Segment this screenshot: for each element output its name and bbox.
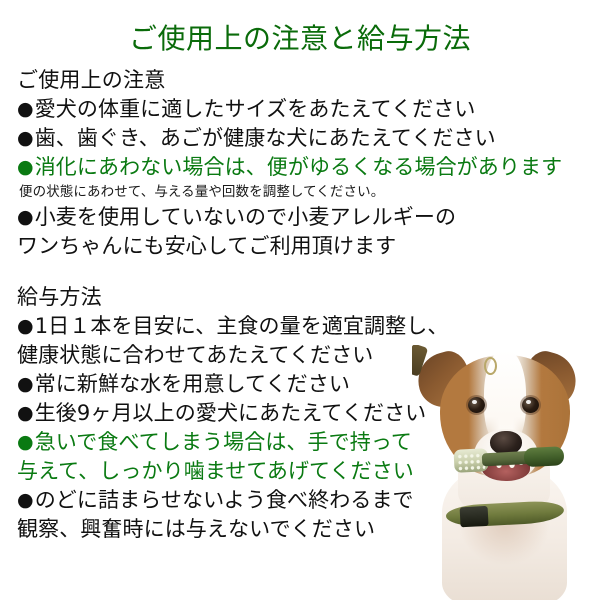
feeding-item-continuation: 観察、興奮時には与えないでください (17, 515, 583, 544)
precaution-item: 小麦を使用していないので小麦アレルギーの (17, 203, 583, 232)
instructions-content: ご使用上の注意 愛犬の体重に適したサイズをあたえてください 歯、歯ぐき、あごが健… (17, 66, 583, 544)
feeding-item: 1日１本を目安に、主食の量を適宜調整し、 (17, 312, 583, 341)
precaution-item: 愛犬の体重に適したサイズをあたえてください (17, 95, 583, 124)
section-precautions: ご使用上の注意 愛犬の体重に適したサイズをあたえてください 歯、歯ぐき、あごが健… (17, 66, 583, 261)
feeding-item: 常に新鮮な水を用意してください (17, 370, 583, 399)
precaution-item-highlighted: 消化にあわない場合は、便がゆるくなる場合があります (17, 153, 583, 182)
section-spacer (17, 261, 583, 283)
feeding-item: のどに詰まらせないよう食べ終わるまで (17, 486, 583, 515)
feeding-item-highlighted: 急いで食べてしまう場合は、手で持って (17, 428, 583, 457)
product-instructions-page: ご使用上の注意と給与方法 (0, 0, 600, 600)
section-precautions-heading: ご使用上の注意 (17, 66, 583, 95)
section-feeding: 給与方法 1日１本を目安に、主食の量を適宜調整し、 健康状態に合わせてあたえてく… (17, 283, 583, 544)
precaution-item: 歯、歯ぐき、あごが健康な犬にあたえてください (17, 124, 583, 153)
feeding-item-continuation: 健康状態に合わせてあたえてください (17, 341, 583, 370)
precaution-item-continuation: ワンちゃんにも安心してご利用頂けます (17, 232, 583, 261)
precaution-note: 便の状態にあわせて、与える量や回数を調整してください。 (17, 182, 583, 203)
section-feeding-heading: 給与方法 (17, 283, 583, 312)
feeding-item: 生後9ヶ月以上の愛犬にあたえてください (17, 399, 583, 428)
feeding-item-highlighted-continuation: 与えて、しっかり噛ませてあげてください (17, 457, 583, 486)
page-title: ご使用上の注意と給与方法 (0, 22, 600, 56)
